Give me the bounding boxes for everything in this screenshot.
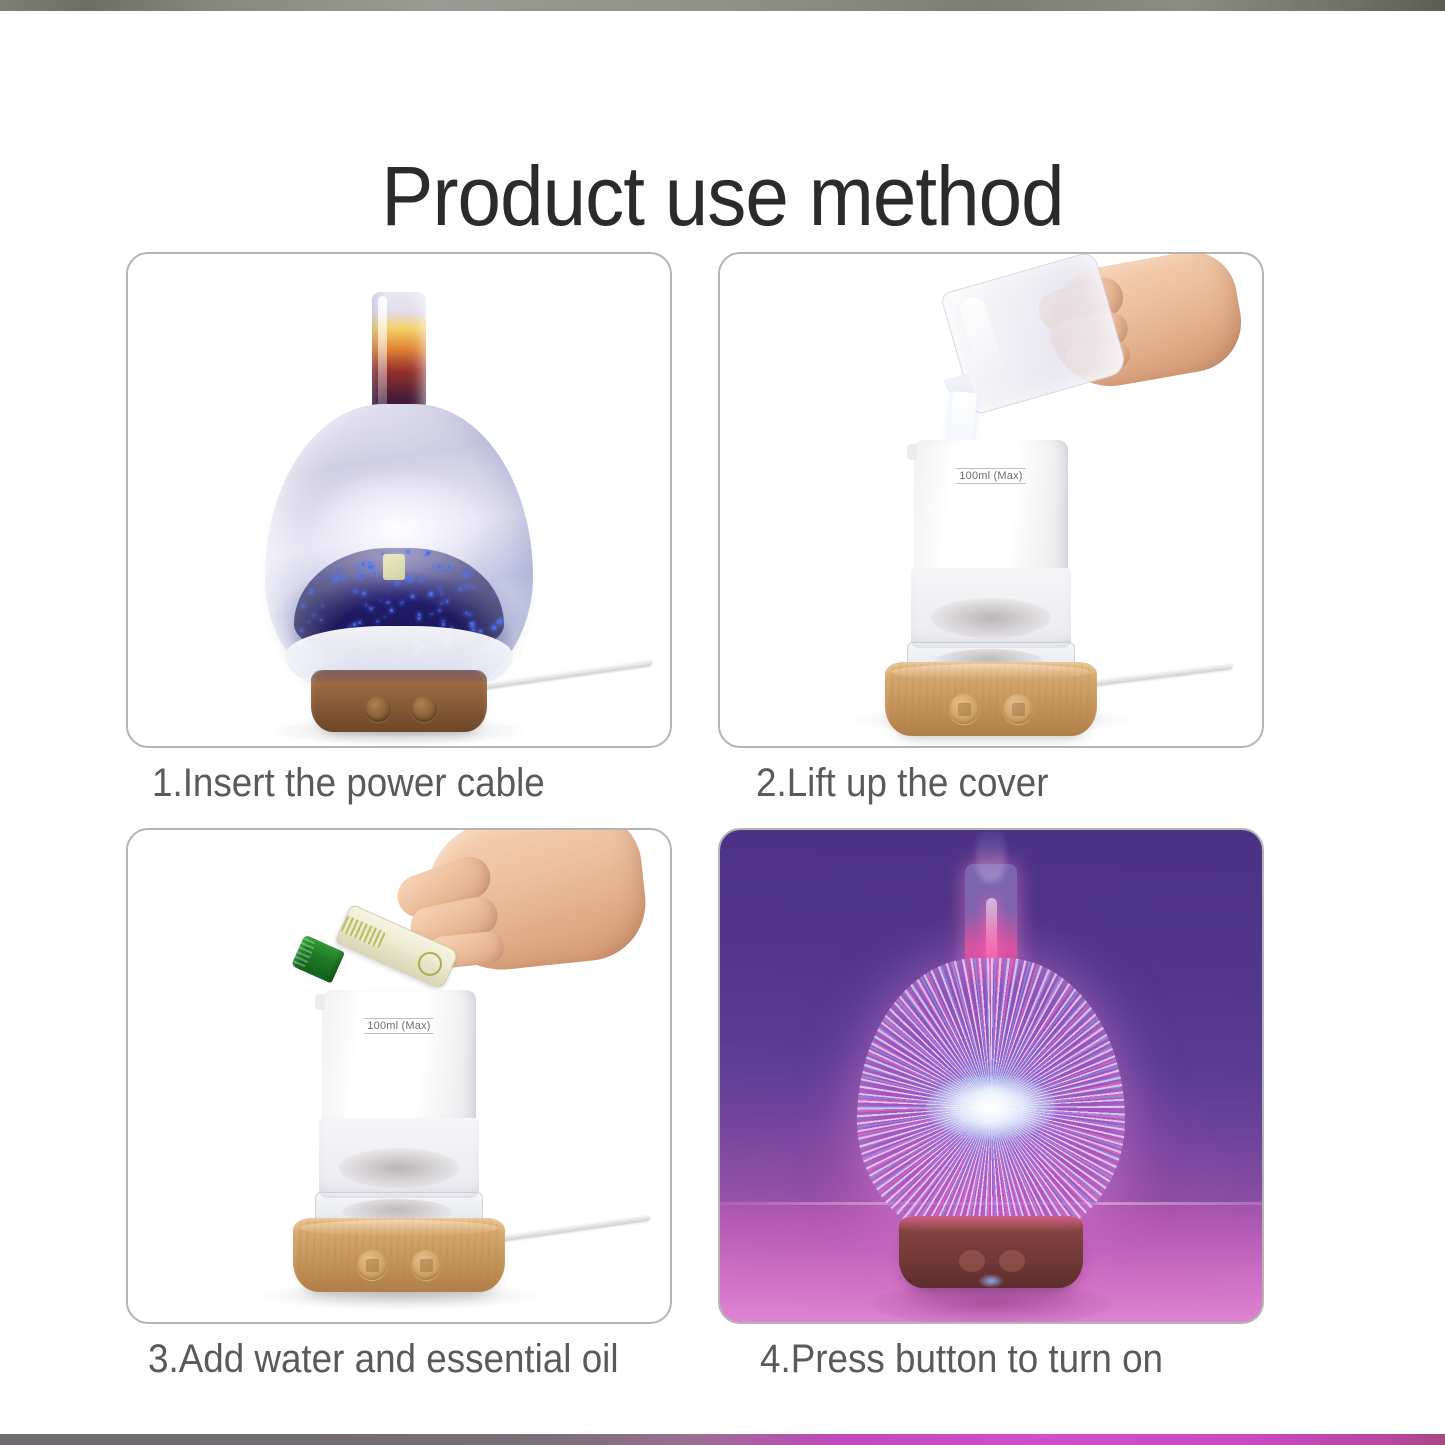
sparkle-dot bbox=[471, 565, 474, 568]
sparkle-dot bbox=[396, 581, 400, 585]
water-tank: 100ml (Max) bbox=[322, 990, 476, 1122]
sparkle-dot bbox=[353, 623, 356, 626]
sparkle-dot bbox=[494, 592, 496, 594]
sparkle-dot bbox=[365, 604, 367, 606]
sparkle-dot bbox=[384, 616, 386, 618]
sparkle-dot bbox=[320, 619, 322, 621]
sparkle-dot bbox=[356, 566, 359, 569]
sparkle-dot bbox=[368, 562, 370, 564]
sparkle-dot bbox=[479, 630, 482, 633]
light-button[interactable] bbox=[411, 1250, 441, 1280]
sparkle-dot bbox=[373, 572, 376, 575]
sparkle-dot bbox=[438, 609, 441, 612]
tank-capacity-label: 100ml (Max) bbox=[364, 1018, 433, 1034]
sparkle-dot bbox=[376, 620, 379, 623]
sparkle-dot bbox=[424, 554, 427, 557]
sparkle-dot bbox=[325, 571, 327, 573]
sparkle-dot bbox=[300, 629, 303, 632]
sparkle-dot bbox=[411, 595, 414, 598]
sparkle-dot bbox=[324, 577, 326, 579]
sparkle-dot bbox=[472, 586, 474, 588]
sparkle-dot bbox=[466, 573, 469, 576]
sparkle-dot bbox=[496, 558, 498, 560]
inner-component-blur bbox=[339, 1148, 459, 1188]
wood-base bbox=[885, 662, 1097, 736]
sparkle-dot bbox=[440, 602, 443, 605]
tank-capacity-label: 100ml (Max) bbox=[956, 468, 1025, 484]
step-4-scene bbox=[720, 830, 1262, 1322]
sparkle-dot bbox=[338, 575, 341, 578]
sparkle-dot bbox=[359, 574, 363, 578]
sparkle-dot bbox=[473, 570, 475, 572]
sparkle-dot bbox=[400, 603, 402, 605]
light-button[interactable] bbox=[1003, 694, 1033, 724]
sparkle-dot bbox=[432, 565, 435, 568]
step-2-caption: 2.Lift up the cover bbox=[756, 760, 1049, 806]
sparkle-dot bbox=[468, 613, 472, 617]
sparkle-dot bbox=[466, 586, 469, 589]
step-1-image-panel bbox=[126, 252, 672, 748]
sparkle-dot bbox=[499, 619, 503, 623]
step-4-image-panel bbox=[718, 828, 1264, 1324]
sparkle-dot bbox=[459, 588, 461, 590]
sparkle-dot bbox=[475, 549, 477, 551]
sparkle-dot bbox=[465, 612, 467, 614]
sparkle-dot bbox=[302, 604, 305, 607]
sparkle-dot bbox=[418, 613, 420, 615]
page-title: Product use method bbox=[51, 148, 1395, 244]
glass-vase-body-lit bbox=[857, 958, 1125, 1244]
led-core-glow bbox=[926, 1075, 1056, 1139]
bottom-edge-strip bbox=[0, 1434, 1445, 1445]
sparkle-dot bbox=[312, 613, 316, 617]
tank-frosted-section bbox=[319, 1118, 479, 1198]
base-led-glow bbox=[978, 1274, 1004, 1288]
water-tank: 100ml (Max) bbox=[914, 440, 1068, 572]
sparkle-dot bbox=[407, 577, 411, 581]
step-1-caption: 1.Insert the power cable bbox=[152, 760, 545, 806]
power-button[interactable] bbox=[959, 1250, 985, 1272]
sparkle-dot bbox=[368, 565, 371, 568]
sparkle-dot bbox=[418, 617, 421, 620]
sparkle-dot bbox=[440, 593, 443, 596]
sparkle-dot bbox=[361, 562, 365, 566]
sparkle-dot bbox=[336, 567, 339, 570]
sparkle-dot bbox=[443, 569, 447, 573]
sparkle-dot bbox=[437, 587, 441, 591]
sparkle-dot bbox=[386, 601, 390, 605]
tank-frosted-section bbox=[911, 568, 1071, 648]
sparkle-dot bbox=[335, 580, 337, 582]
sparkle-dot bbox=[430, 613, 433, 616]
inner-component-blur bbox=[931, 598, 1051, 638]
sparkle-dot bbox=[448, 565, 451, 568]
sparkle-dot bbox=[442, 623, 445, 626]
sparkle-dot bbox=[362, 592, 366, 596]
sparkle-dot bbox=[370, 565, 373, 568]
sparkle-dot bbox=[429, 592, 433, 596]
sparkle-dot bbox=[471, 624, 474, 627]
sparkle-dot bbox=[342, 576, 346, 580]
step-2-scene: 100ml (Max) bbox=[720, 254, 1262, 746]
power-button[interactable] bbox=[365, 696, 391, 722]
sparkle-dot bbox=[354, 589, 358, 593]
reflection-highlight bbox=[383, 554, 405, 580]
sparkle-dot bbox=[390, 609, 393, 612]
sparkle-dot bbox=[406, 550, 409, 553]
sparkle-dot bbox=[310, 592, 312, 594]
step-3-caption: 3.Add water and essential oil bbox=[148, 1336, 619, 1382]
sparkle-dot bbox=[492, 626, 496, 630]
top-edge-strip bbox=[0, 0, 1445, 11]
sparkle-dot bbox=[488, 555, 490, 557]
light-button[interactable] bbox=[999, 1250, 1025, 1272]
step-3-image-panel: 100ml (Max) bbox=[126, 828, 672, 1324]
step-3-scene: 100ml (Max) bbox=[128, 830, 670, 1322]
product-shadow bbox=[871, 1282, 1111, 1324]
power-button[interactable] bbox=[357, 1250, 387, 1280]
product-instruction-infographic: Product use method 1.Insert the power ca… bbox=[0, 0, 1445, 1445]
sparkle-dot bbox=[369, 607, 373, 611]
step-2-image-panel: 100ml (Max) bbox=[718, 252, 1264, 748]
sparkle-dot bbox=[419, 577, 422, 580]
sparkle-dot bbox=[358, 621, 362, 625]
sparkle-dot bbox=[315, 576, 317, 578]
light-button[interactable] bbox=[411, 696, 437, 722]
sparkle-dot bbox=[488, 573, 492, 577]
step-1-scene bbox=[128, 254, 670, 746]
power-button[interactable] bbox=[949, 694, 979, 724]
sparkle-dot bbox=[306, 556, 310, 560]
step-4-caption: 4.Press button to turn on bbox=[760, 1336, 1163, 1382]
sparkle-dot bbox=[308, 621, 310, 623]
sparkle-dot bbox=[446, 600, 449, 603]
wood-base bbox=[293, 1218, 505, 1292]
sparkle-dot bbox=[333, 576, 336, 579]
sparkle-dot bbox=[316, 558, 319, 561]
wood-base bbox=[311, 670, 487, 732]
sparkle-dot bbox=[380, 600, 382, 602]
sparkle-dot bbox=[322, 605, 324, 607]
